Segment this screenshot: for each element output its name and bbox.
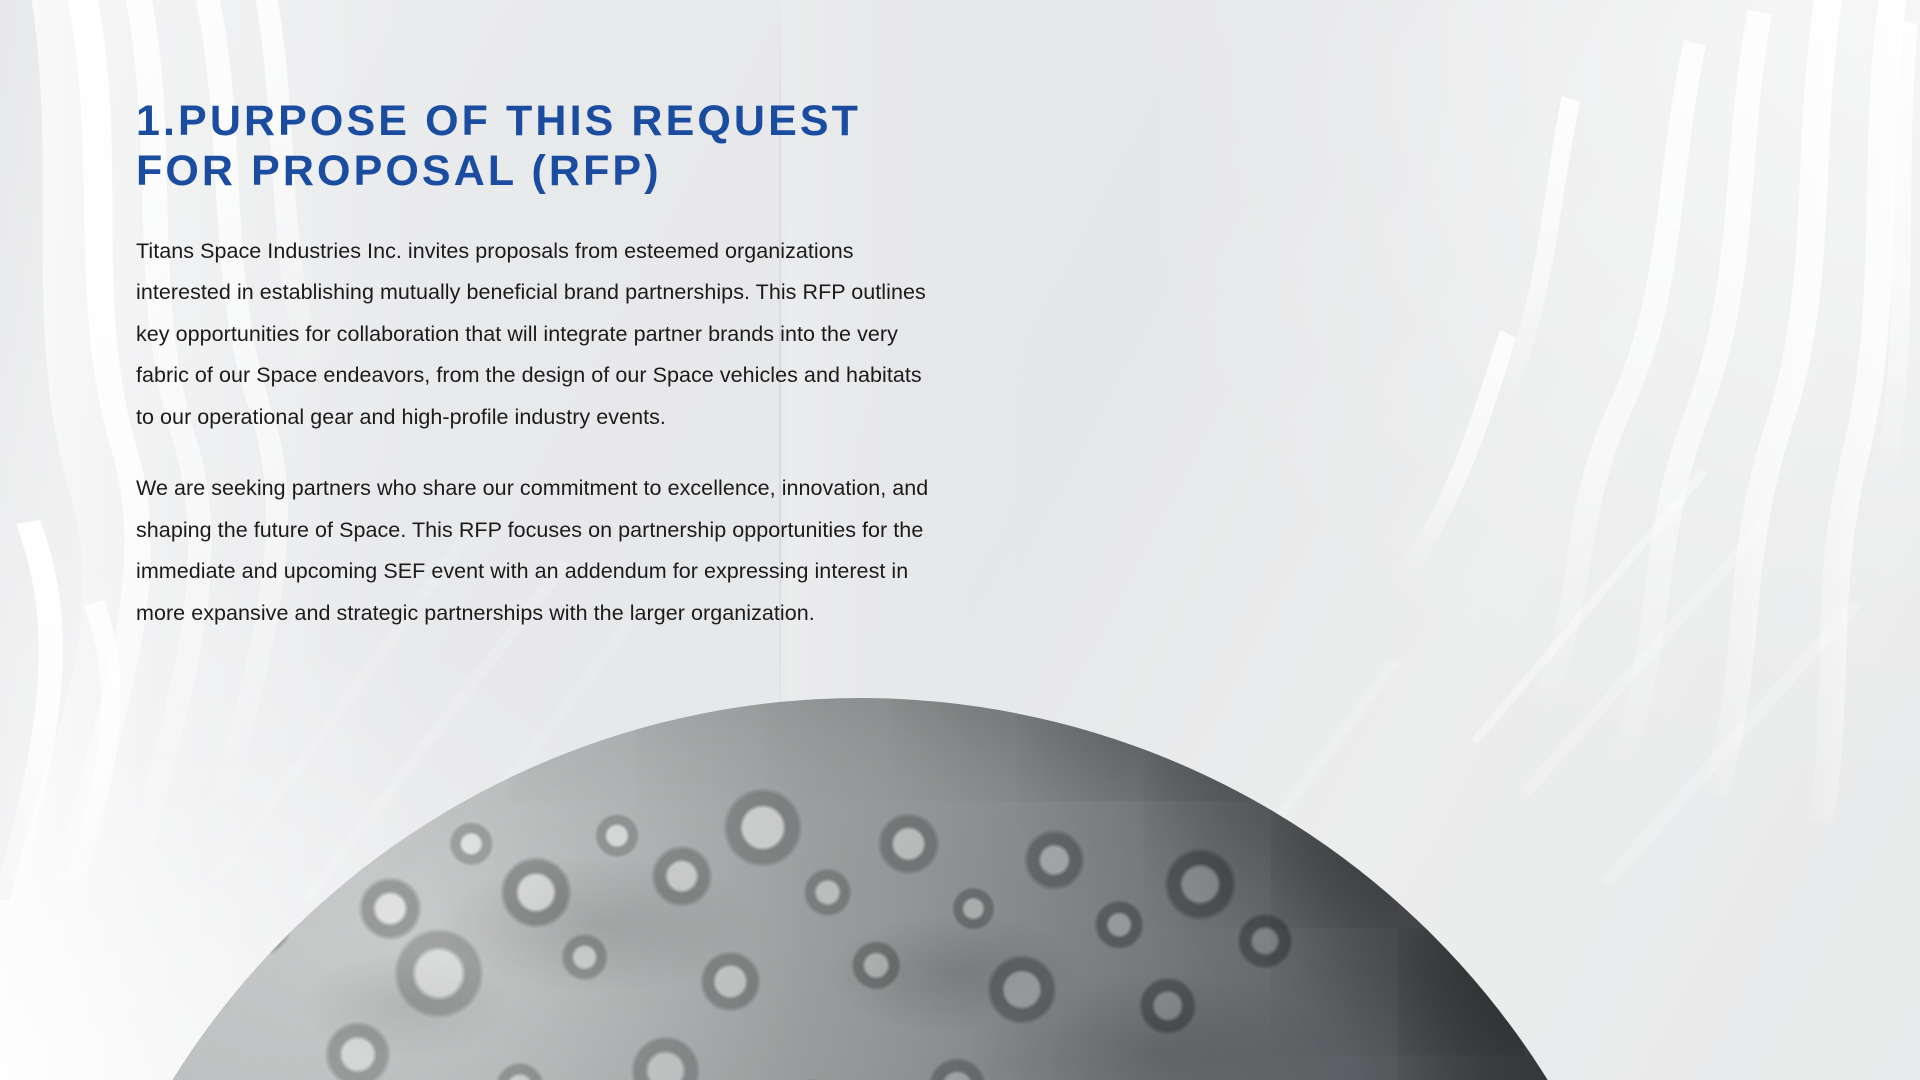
body-copy: Titans Space Industries Inc. invites pro… — [136, 231, 966, 635]
slide-content: 1.Purpose of This Request For Proposal (… — [136, 96, 966, 634]
slide-canvas: 1.Purpose of This Request For Proposal (… — [0, 0, 1920, 1080]
moon-limb-highlight — [50, 698, 1670, 1080]
moon-limb-photograph — [0, 610, 1920, 1080]
paragraph-2: We are seeking partners who share our co… — [136, 468, 936, 634]
paragraph-1: Titans Space Industries Inc. invites pro… — [136, 231, 936, 439]
page-title: 1.Purpose of This Request For Proposal (… — [136, 96, 966, 197]
